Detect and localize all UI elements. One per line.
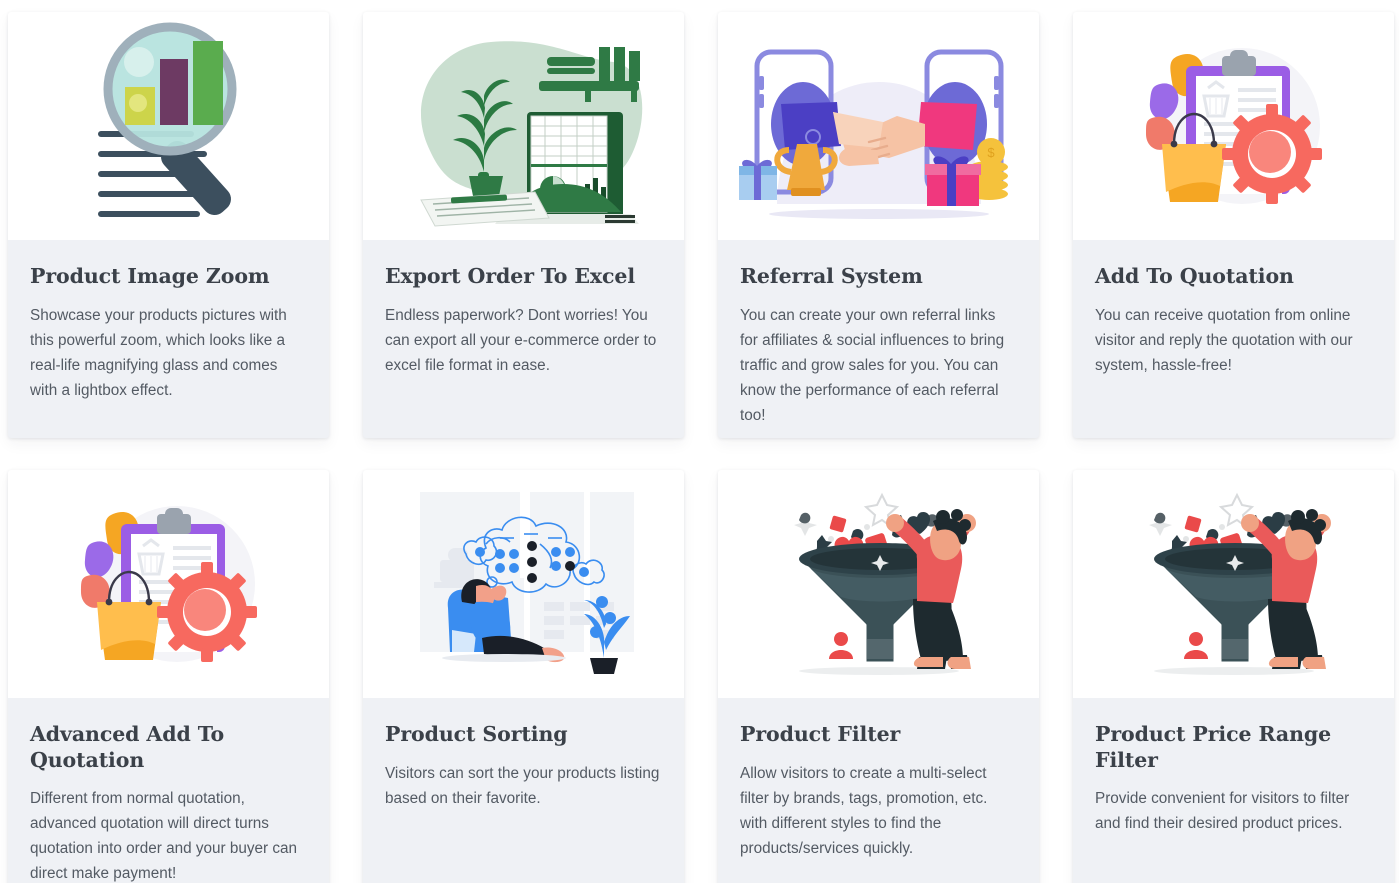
feature-card[interactable]: Product Filter Allow visitors to create … (718, 470, 1039, 883)
card-media (8, 12, 329, 240)
card-media: $ (718, 12, 1039, 240)
clipboard-shopping-bag-gear-icon (69, 484, 269, 684)
card-body: Product Filter Allow visitors to create … (718, 698, 1039, 881)
feature-card[interactable]: Product Sorting Visitors can sort the yo… (363, 470, 684, 883)
card-media (1073, 470, 1394, 698)
card-media (1073, 12, 1394, 240)
card-title: Export Order To Excel (385, 264, 662, 290)
feature-card[interactable]: Product Image Zoom Showcase your product… (8, 12, 329, 438)
feature-card[interactable]: Advanced Add To Quotation Different from… (8, 470, 329, 883)
card-title: Add To Quotation (1095, 264, 1372, 290)
card-title: Referral System (740, 264, 1017, 290)
magnifying-glass-bar-chart-icon (69, 19, 269, 234)
person-thinking-sorting-icon (404, 482, 644, 687)
laptop-spreadsheet-export-icon (399, 24, 649, 229)
card-description: Endless paperwork? Dont worries! You can… (385, 303, 662, 378)
card-body: Product Price Range Filter Provide conve… (1073, 698, 1394, 856)
feature-card[interactable]: $ Referral System You can create your ow… (718, 12, 1039, 438)
card-media (363, 12, 684, 240)
svg-text:$: $ (987, 145, 995, 160)
card-description: Allow visitors to create a multi-select … (740, 761, 1017, 861)
card-description: Provide convenient for visitors to filte… (1095, 786, 1372, 836)
feature-card[interactable]: Product Price Range Filter Provide conve… (1073, 470, 1394, 883)
handshake-between-phones-icon: $ (729, 24, 1029, 229)
card-description: Different from normal quotation, advance… (30, 786, 307, 883)
card-media (718, 470, 1039, 698)
card-body: Advanced Add To Quotation Different from… (8, 698, 329, 883)
clipboard-shopping-bag-gear-icon (1134, 26, 1334, 226)
card-title: Product Sorting (385, 722, 662, 748)
card-media (8, 470, 329, 698)
card-body: Product Image Zoom Showcase your product… (8, 240, 329, 423)
card-body: Product Sorting Visitors can sort the yo… (363, 698, 684, 831)
feature-card[interactable]: Export Order To Excel Endless paperwork?… (363, 12, 684, 438)
funnel-filter-person-icon (1126, 487, 1341, 682)
card-title: Product Image Zoom (30, 264, 307, 290)
card-description: You can receive quotation from online vi… (1095, 303, 1372, 378)
card-title: Product Filter (740, 722, 1017, 748)
card-description: Visitors can sort the your products list… (385, 761, 662, 811)
card-title: Product Price Range Filter (1095, 722, 1372, 773)
card-title: Advanced Add To Quotation (30, 722, 307, 773)
funnel-filter-person-icon (771, 487, 986, 682)
card-media (363, 470, 684, 698)
card-description: Showcase your products pictures with thi… (30, 303, 307, 403)
card-body: Export Order To Excel Endless paperwork?… (363, 240, 684, 398)
card-body: Add To Quotation You can receive quotati… (1073, 240, 1394, 398)
feature-card[interactable]: Add To Quotation You can receive quotati… (1073, 12, 1394, 438)
feature-card-grid: Product Image Zoom Showcase your product… (0, 0, 1399, 883)
card-description: You can create your own referral links f… (740, 303, 1017, 428)
card-body: Referral System You can create your own … (718, 240, 1039, 438)
